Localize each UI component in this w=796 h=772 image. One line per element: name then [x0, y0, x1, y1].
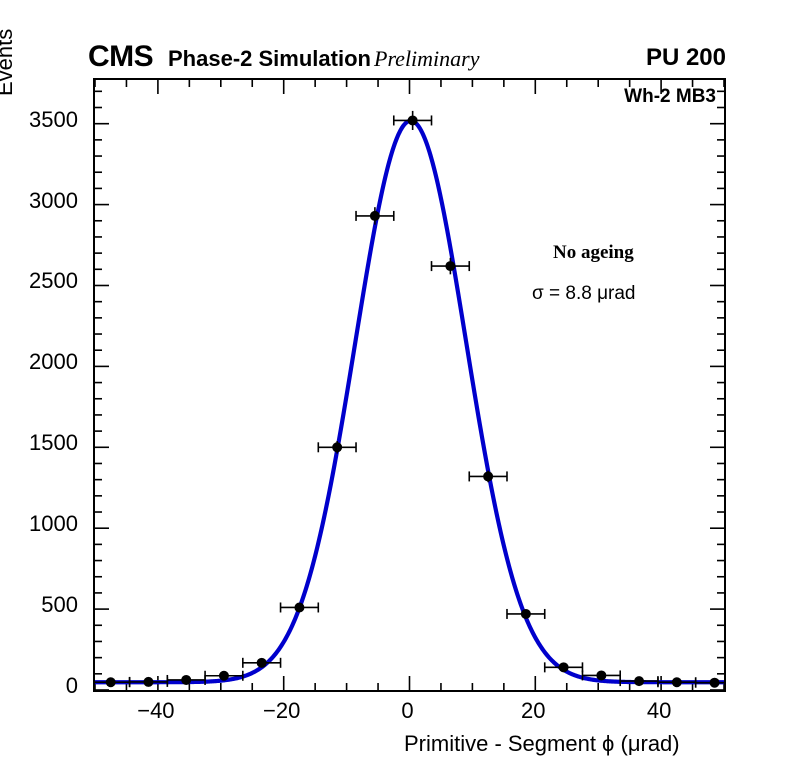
data-marker — [257, 658, 267, 668]
data-marker — [294, 602, 304, 612]
data-marker — [483, 471, 493, 481]
plot-region-label: Wh-2 MB3 — [624, 86, 716, 108]
x-tick-label: 40 — [619, 698, 699, 724]
data-marker — [672, 677, 682, 687]
axis-ticks — [95, 80, 724, 690]
chart-canvas — [95, 80, 724, 690]
annotation-ageing: No ageing — [553, 242, 634, 264]
data-marker — [219, 671, 229, 681]
data-marker — [106, 677, 116, 687]
chart-page: CMS Phase-2 Simulation Preliminary PU 20… — [0, 0, 796, 772]
x-tick-label: −40 — [116, 698, 196, 724]
data-marker — [559, 662, 569, 672]
data-marker — [408, 115, 418, 125]
data-marker — [332, 442, 342, 452]
fit-curve — [95, 121, 724, 682]
data-marker — [370, 211, 380, 221]
x-tick-label: 20 — [493, 698, 573, 724]
data-marker — [521, 609, 531, 619]
data-points — [95, 111, 724, 688]
x-tick-label: 0 — [368, 698, 448, 724]
x-tick-label: −20 — [242, 698, 322, 724]
plot-frame: Wh-2 MB3 No ageing σ = 8.8 μrad — [93, 78, 726, 692]
data-marker — [181, 675, 191, 685]
data-marker — [634, 676, 644, 686]
data-marker — [596, 670, 606, 680]
plot-area — [95, 80, 724, 690]
data-marker — [445, 261, 455, 271]
data-marker — [143, 677, 153, 687]
data-marker — [710, 678, 720, 688]
annotation-sigma: σ = 8.8 μrad — [532, 283, 635, 305]
